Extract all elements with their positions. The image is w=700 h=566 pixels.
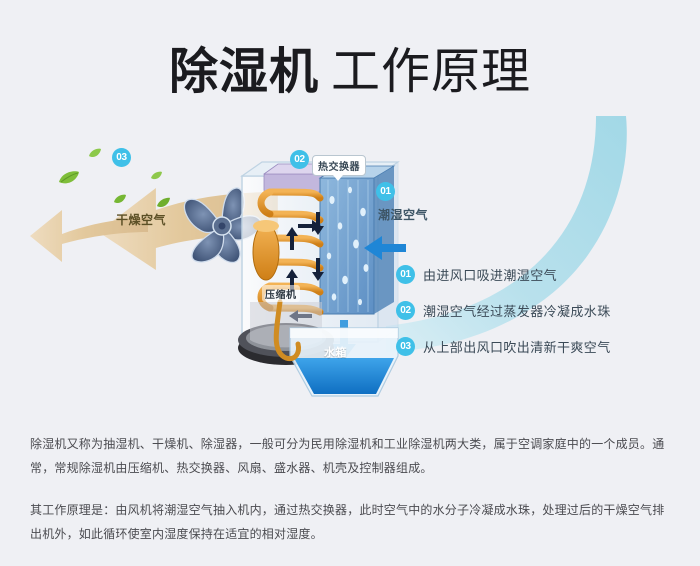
description-paragraph-2: 其工作原理是：由风机将潮湿空气抽入机内，通过热交换器，此时空气中的水分子冷凝成水…: [30, 498, 675, 546]
dry-air-label: 干燥空气: [116, 211, 166, 228]
legend-text-03: 从上部出风口吹出清新干爽空气: [423, 337, 611, 356]
page-title: 除湿机工作原理: [0, 32, 700, 103]
compressor-label: 压缩机: [262, 285, 300, 302]
legend-text-01: 由进风口吸进潮湿空气: [423, 265, 557, 284]
legend-item: 02 潮湿空气经过蒸发器冷凝成水珠: [396, 292, 686, 328]
legend-badge-02: 02: [396, 301, 415, 320]
diagram-badge-02: 02: [290, 150, 309, 169]
description-block: 除湿机又称为抽湿机、干燥机、除湿器，一般可分为民用除湿机和工业除湿机两大类，属于…: [30, 420, 675, 558]
page-title-secondary: 工作原理: [331, 45, 531, 99]
humid-air-label: 潮湿空气: [378, 206, 428, 223]
legend-item: 03 从上部出风口吹出清新干爽空气: [396, 328, 686, 364]
leaf-icon: [88, 146, 102, 164]
description-paragraph-1: 除湿机又称为抽湿机、干燥机、除湿器，一般可分为民用除湿机和工业除湿机两大类，属于…: [30, 432, 675, 480]
leaf-icon: [113, 192, 127, 210]
legend-list: 01 由进风口吸进潮湿空气 02 潮湿空气经过蒸发器冷凝成水珠 03 从上部出风…: [396, 256, 686, 364]
legend-text-02: 潮湿空气经过蒸发器冷凝成水珠: [423, 301, 611, 320]
diagram-badge-01: 01: [376, 182, 395, 201]
page-title-primary: 除湿机: [169, 45, 319, 99]
leaf-icon: [150, 168, 163, 186]
leaf-icon: [58, 170, 80, 191]
legend-badge-03: 03: [396, 337, 415, 356]
legend-badge-01: 01: [396, 265, 415, 284]
water-tank-label: 水箱: [324, 344, 347, 360]
legend-item: 01 由进风口吸进潮湿空气: [396, 256, 686, 292]
diagram-badge-03: 03: [112, 148, 131, 167]
heat-exchanger-callout: 热交换器: [312, 155, 366, 176]
